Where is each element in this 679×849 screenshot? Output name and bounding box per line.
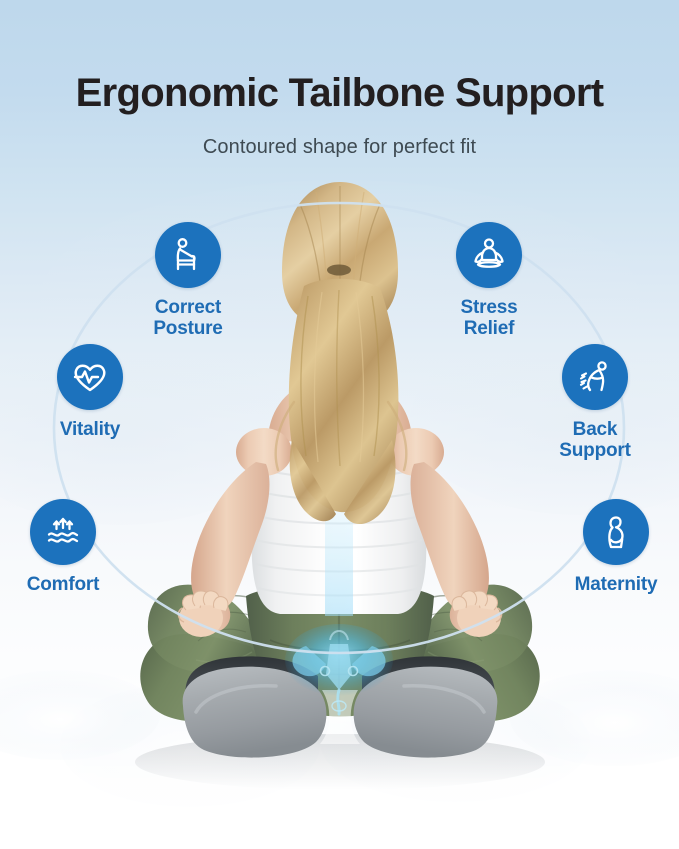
feature-icon-circle: [456, 222, 522, 288]
feature-comfort[interactable]: Comfort: [0, 499, 128, 595]
feature-correct-posture[interactable]: Correct Posture: [123, 222, 253, 340]
feature-icon-circle: [155, 222, 221, 288]
pregnant-woman-icon: [596, 512, 636, 552]
feature-stress-relief[interactable]: Stress Relief: [424, 222, 554, 340]
feature-icon-circle: [562, 344, 628, 410]
page-title: Ergonomic Tailbone Support: [0, 0, 679, 113]
feature-vitality[interactable]: Vitality: [25, 344, 155, 440]
feature-icon-circle: [30, 499, 96, 565]
heart-pulse-icon: [70, 357, 110, 397]
feature-label: Back Support: [559, 419, 630, 462]
page-subtitle: Contoured shape for perfect fit: [0, 113, 679, 159]
feature-label: Comfort: [27, 574, 99, 595]
feature-label: Maternity: [575, 574, 658, 595]
feature-label: Vitality: [60, 419, 120, 440]
breathable-waves-icon: [43, 512, 83, 552]
hair-blonde-ponytail: [276, 182, 407, 524]
feature-maternity[interactable]: Maternity: [551, 499, 679, 595]
poster-header: Ergonomic Tailbone Support Contoured sha…: [0, 0, 679, 159]
feature-icon-circle: [57, 344, 123, 410]
product-feature-poster: Ergonomic Tailbone Support Contoured sha…: [0, 0, 679, 849]
feature-label: Stress Relief: [461, 297, 518, 340]
meditation-lotus-icon: [469, 235, 509, 275]
feature-icon-circle: [583, 499, 649, 565]
feature-label: Correct Posture: [153, 297, 222, 340]
sitting-posture-icon: [168, 235, 208, 275]
feature-back-support[interactable]: Back Support: [530, 344, 660, 462]
back-pain-icon: [575, 357, 615, 397]
